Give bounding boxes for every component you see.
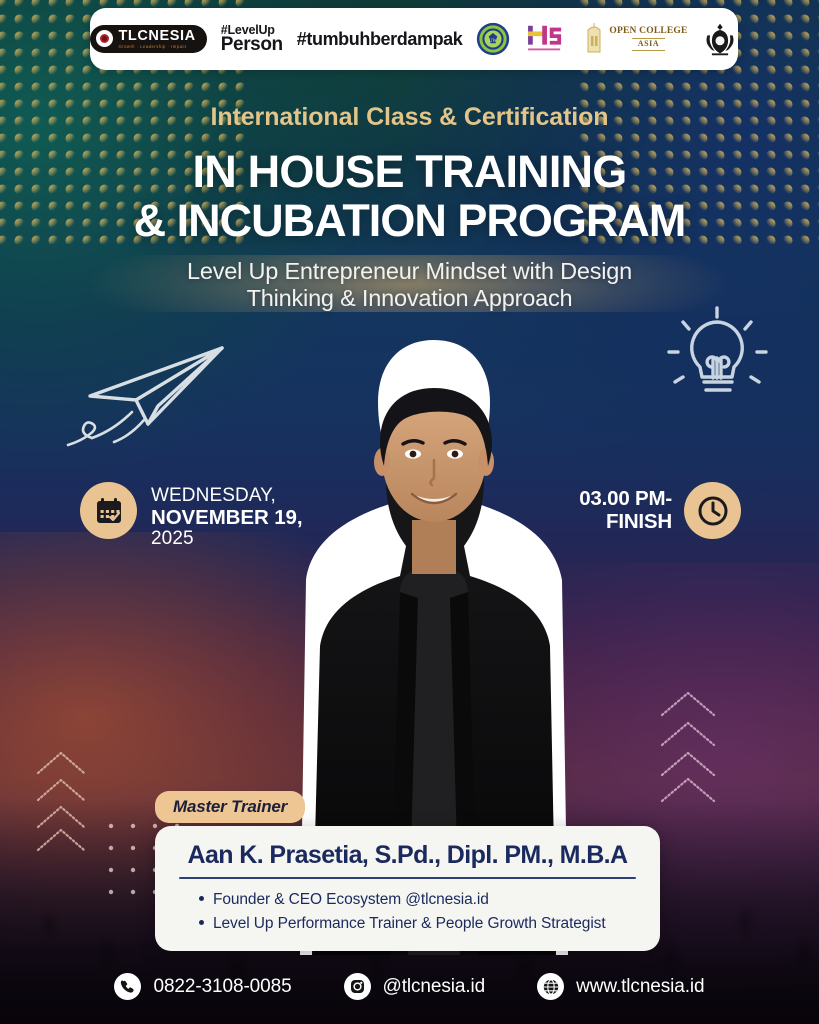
contact-instagram-value: @tlcnesia.id — [383, 976, 486, 998]
subtitle: Level Up Entrepreneur Mindset with Desig… — [0, 258, 819, 313]
contact-instagram[interactable]: @tlcnesia.id — [344, 973, 486, 1000]
list-item: Level Up Performance Trainer & People Gr… — [213, 912, 640, 935]
speaker-name: Aan K. Prasetia, S.Pd., Dipl. PM., M.B.A — [175, 842, 640, 868]
clock-icon — [684, 482, 741, 539]
title-line-1: IN HOUSE TRAINING — [0, 148, 819, 197]
eyebrow-text: International Class & Certification — [0, 103, 819, 132]
instagram-icon — [344, 973, 371, 1000]
title-line-2: & INCUBATION PROGRAM — [0, 197, 819, 246]
speaker-credentials-list: Founder & CEO Ecosystem @tlcnesia.id Lev… — [175, 888, 640, 935]
event-poster: TLCNESIA Growth · Leadership · Impact #L… — [0, 0, 819, 1024]
university-seal-icon: UW — [476, 22, 510, 56]
date-line-1: WEDNESDAY, — [151, 486, 302, 507]
oca-building-icon — [582, 22, 606, 56]
chevron-up-stack-icon-left — [26, 745, 96, 855]
time-line-2: FINISH — [579, 511, 672, 534]
contact-phone-value: 0822-3108-0085 — [153, 976, 291, 998]
contact-website[interactable]: www.tlcnesia.id — [537, 973, 704, 1000]
time-line-1: 03.00 PM- — [579, 488, 672, 511]
date-line-2: NOVEMBER 19, — [151, 507, 302, 529]
list-item: Founder & CEO Ecosystem @tlcnesia.id — [213, 888, 640, 911]
oca-line2: ASIA — [632, 38, 666, 50]
tumbuhberdampak-hashtag: #tumbuhberdampak — [297, 29, 463, 50]
speaker-card: Aan K. Prasetia, S.Pd., Dipl. PM., M.B.A… — [155, 826, 660, 951]
tlcnesia-wordmark: TLCNESIA — [118, 29, 195, 44]
phone-icon — [114, 973, 141, 1000]
globe-icon — [537, 973, 564, 1000]
levelup-person-logo: #LevelUp Person — [221, 24, 283, 55]
card-divider — [179, 877, 636, 879]
subtitle-line-2: Thinking & Innovation Approach — [0, 285, 819, 312]
lightbulb-icon — [655, 300, 780, 420]
event-time-block: 03.00 PM- FINISH — [579, 482, 741, 539]
hs-partner-logo-icon — [524, 22, 568, 56]
footer-contacts: 0822-3108-0085 @tlcnesia.id — [0, 973, 819, 1000]
page-title: IN HOUSE TRAINING & INCUBATION PROGRAM — [0, 148, 819, 245]
royal-crest-icon — [702, 21, 738, 57]
tlcnesia-tagline: Growth · Leadership · Impact — [118, 45, 195, 49]
contact-website-value: www.tlcnesia.id — [576, 976, 704, 998]
date-line-3: 2025 — [151, 529, 302, 550]
oca-line1: OPEN COLLEGE — [609, 27, 687, 37]
subtitle-line-1: Level Up Entrepreneur Mindset with Desig… — [0, 258, 819, 285]
svg-text:UW: UW — [489, 38, 498, 44]
tlcnesia-logo: TLCNESIA Growth · Leadership · Impact — [90, 25, 206, 54]
levelup-person-word: Person — [221, 36, 283, 55]
chevron-up-stack-icon-right — [650, 685, 726, 805]
contact-phone[interactable]: 0822-3108-0085 — [114, 973, 291, 1000]
paper-plane-icon — [62, 328, 247, 463]
tlcnesia-mark-icon — [96, 30, 113, 47]
partner-logo-bar: TLCNESIA Growth · Leadership · Impact #L… — [90, 8, 738, 70]
calendar-icon — [80, 482, 137, 539]
event-date-block: WEDNESDAY, NOVEMBER 19, 2025 — [80, 482, 302, 549]
master-trainer-badge: Master Trainer — [155, 791, 305, 823]
open-college-asia-logo: OPEN COLLEGE ASIA — [582, 22, 687, 56]
